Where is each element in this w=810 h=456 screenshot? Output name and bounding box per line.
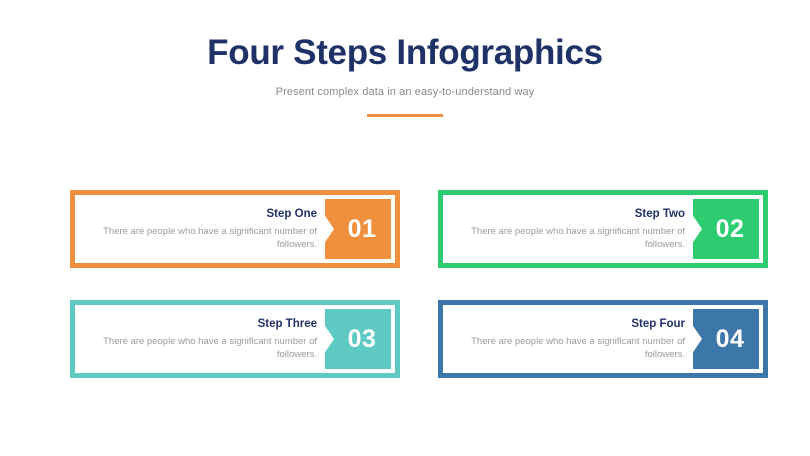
step-text-block: Step Four There are people who have a si… — [451, 317, 685, 361]
step-heading: Step Four — [451, 317, 685, 332]
step-card-inner: Step Three There are people who have a s… — [75, 305, 395, 373]
title-divider — [367, 114, 443, 117]
step-body: There are people who have a significant … — [451, 335, 685, 361]
step-text-block: Step Two There are people who have a sig… — [451, 207, 685, 251]
step-number: 01 — [340, 217, 377, 242]
step-body: There are people who have a significant … — [83, 225, 317, 251]
page-subtitle: Present complex data in an easy-to-under… — [0, 84, 810, 100]
step-number-badge: 04 — [693, 309, 759, 369]
step-body: There are people who have a significant … — [83, 335, 317, 361]
step-heading: Step Two — [451, 207, 685, 222]
step-heading: Step Three — [83, 317, 317, 332]
step-number-badge: 02 — [693, 199, 759, 259]
step-number-badge: 03 — [325, 309, 391, 369]
step-card-04[interactable]: Step Four There are people who have a si… — [438, 300, 768, 378]
step-text-block: Step Three There are people who have a s… — [83, 317, 317, 361]
page-title: Four Steps Infographics — [0, 32, 810, 74]
step-number: 04 — [708, 327, 745, 352]
step-card-03[interactable]: Step Three There are people who have a s… — [70, 300, 400, 378]
step-number: 02 — [708, 217, 745, 242]
step-card-01[interactable]: Step One There are people who have a sig… — [70, 190, 400, 268]
header-block: Four Steps Infographics Present complex … — [0, 32, 810, 117]
step-card-inner: Step Two There are people who have a sig… — [443, 195, 763, 263]
step-card-inner: Step One There are people who have a sig… — [75, 195, 395, 263]
step-heading: Step One — [83, 207, 317, 222]
step-card-inner: Step Four There are people who have a si… — [443, 305, 763, 373]
step-card-02[interactable]: Step Two There are people who have a sig… — [438, 190, 768, 268]
step-text-block: Step One There are people who have a sig… — [83, 207, 317, 251]
step-number-badge: 01 — [325, 199, 391, 259]
step-body: There are people who have a significant … — [451, 225, 685, 251]
step-number: 03 — [340, 327, 377, 352]
steps-grid: Step One There are people who have a sig… — [70, 190, 768, 380]
